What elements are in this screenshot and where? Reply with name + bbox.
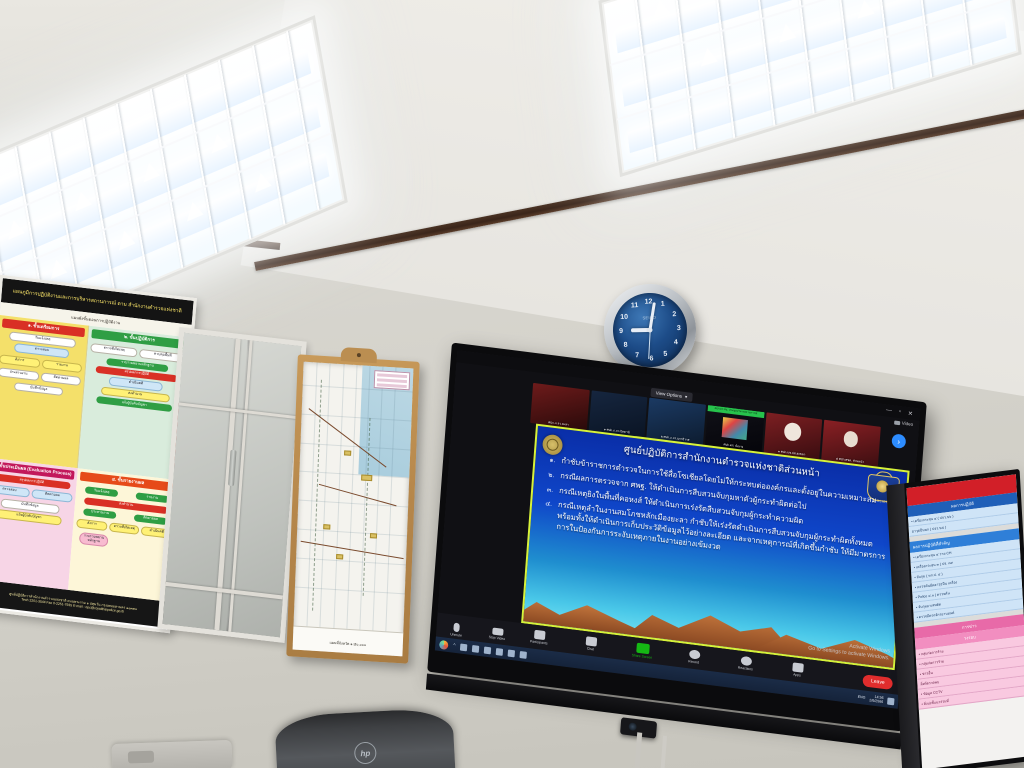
flow-node: รวบรวมพยานหลักฐาน [79, 532, 109, 548]
toolbar-reactions-button[interactable]: Reactions [730, 655, 761, 673]
minimize-icon[interactable]: — [886, 407, 892, 414]
flow-node: ตรวจที่เกิดเหตุ [109, 522, 140, 535]
toolbar-label: Stop Video [489, 635, 506, 641]
monitor-screen: ผลการปฏิบัติ • เครื่องกระสุน ๔ ( ปจว.๖๖ … [906, 474, 1024, 768]
flow-node: ประสานงาน [0, 367, 39, 381]
clock-center-cap [647, 327, 652, 332]
maximize-icon[interactable]: ▫ [899, 409, 902, 415]
clock-face: SEIKO 12 1 2 3 4 5 6 7 8 9 10 11 [611, 291, 689, 369]
toolbar-record-button[interactable]: Record [679, 648, 710, 666]
microphone-icon [453, 623, 460, 633]
office-room-photo: แผนภูมิการปฏิบัติงานและการบริหารสถานการณ… [0, 0, 1024, 768]
chat-icon [585, 636, 597, 646]
record-icon [688, 649, 700, 659]
map-hanger [341, 347, 377, 363]
toolbar-apps-button[interactable]: Apps [782, 661, 813, 679]
map-legend [374, 370, 411, 390]
taskbar-date: 2/6/2566 [869, 698, 883, 704]
toolbar-label: Record [688, 659, 699, 664]
desk-device [112, 740, 233, 768]
toolbar-share-screen-button[interactable]: Share Screen [627, 641, 658, 660]
flow-node: ตรวจที่เกิดเหตุ [90, 343, 137, 357]
bullet-number: ๑. [546, 454, 556, 466]
toolbar-participants-button[interactable]: Participants [524, 628, 555, 646]
participant-thumbnail[interactable]: ๓ ศปก.บช.ปส.สงขลา [763, 412, 822, 459]
flow-node: ติดตามผล [31, 489, 73, 503]
tray-icon[interactable] [520, 651, 527, 659]
toolbar-label: Chat [587, 646, 594, 651]
flow-node: สั่งการ [76, 518, 107, 531]
taskbar-clock[interactable]: 14:56 2/6/2566 [869, 694, 884, 704]
notifications-icon[interactable] [887, 697, 894, 705]
participant-thumbnail[interactable]: ๒ ศปก.ภ.จว.นราธิวาส [647, 398, 706, 445]
taskbar-system-tray: ENG 14:56 2/6/2566 [857, 693, 894, 706]
tray-icon[interactable] [472, 645, 479, 653]
poster-quadrant-3: ๓. ขั้นประเมินผล (Evaluation Process) สร… [0, 458, 78, 590]
share-screen-icon [636, 642, 650, 654]
bullet-number: ๓. [544, 484, 554, 496]
flow-node: ติดตามผล [40, 372, 81, 386]
bullet-number: ๔. [541, 498, 552, 531]
toolbar-label: Reactions [738, 666, 753, 672]
close-icon[interactable]: ✕ [908, 410, 914, 418]
map-title: แผนที่จังหวัด ๑:๕๐,๐๐๐ [295, 638, 401, 651]
map-surface: แผนที่จังหวัด ๑:๕๐,๐๐๐ [293, 362, 414, 657]
participant-thumbnail[interactable]: ศปก.ภ.จว.ยะลา [530, 383, 589, 430]
video-camera-icon [894, 420, 900, 425]
bullet-number: ๒. [545, 469, 555, 481]
tv-screen: — ▫ ✕ View Options ▾ Video ศปก.ภ.จว.ยะลา [435, 350, 920, 709]
toolbar-label: Participants [530, 639, 548, 645]
language-indicator[interactable]: ENG [858, 695, 866, 700]
zoom-application-window: — ▫ ✕ View Options ▾ Video ศปก.ภ.จว.ยะลา [435, 350, 920, 709]
chevron-up-icon[interactable]: ^ [453, 643, 456, 649]
next-page-button[interactable]: › [891, 433, 906, 449]
toolbar-label: Share Screen [632, 653, 653, 660]
flow-node: รายงาน [136, 492, 169, 503]
participant-thumbnail-screenshare[interactable]: ศปก.ตร.สน. ประชุมบริหารสถานการณ์ ศปก.ตร.… [705, 405, 764, 452]
status-dashboard-monitor: ผลการปฏิบัติ • เครื่องกระสุน ๔ ( ปจว.๖๖ … [902, 469, 1024, 768]
toolbar-chat-button[interactable]: Chat [575, 635, 606, 653]
toolbar-label: Apps [793, 672, 801, 677]
participant-thumbnail[interactable]: ๔ ศปก.ศชต. ส่วนหน้า [822, 420, 881, 467]
camera-icon [492, 627, 503, 635]
video-indicator: Video [894, 419, 914, 426]
start-button-icon[interactable] [439, 639, 449, 649]
video-label: Video [902, 420, 914, 426]
reactions-icon [740, 656, 752, 666]
wall-mounted-tv: — ▫ ✕ View Options ▾ Video ศปก.ภ.จว.ยะลา [427, 342, 927, 731]
view-options-label: View Options [656, 390, 683, 398]
flow-node: รับแจ้งเหตุ [85, 486, 118, 497]
participants-icon [533, 630, 545, 640]
tray-icon[interactable] [508, 649, 515, 657]
tray-icon[interactable] [460, 643, 467, 651]
share-banner: ศปก.ตร.สน. ประชุมบริหารสถานการณ์ [708, 405, 765, 418]
framed-wall-map: แผนที่จังหวัด ๑:๕๐,๐๐๐ [286, 354, 419, 663]
tray-icon[interactable] [484, 646, 491, 654]
flow-node: ตรวจสอบ [0, 484, 30, 498]
tray-icon[interactable] [496, 648, 503, 656]
poster-quadrant-1: ๑. ขั้นเตรียมการ รับแจ้งเหตุ ตรวจสอบ สั่… [0, 315, 90, 468]
chevron-down-icon: ▾ [685, 394, 688, 400]
hp-logo-icon: hp [354, 741, 377, 764]
apps-icon [792, 662, 804, 672]
participant-thumbnail[interactable]: ๑ ศปก.ภ.จว.ปัตตานี [588, 390, 647, 437]
aluminium-sliding-window [157, 327, 306, 643]
